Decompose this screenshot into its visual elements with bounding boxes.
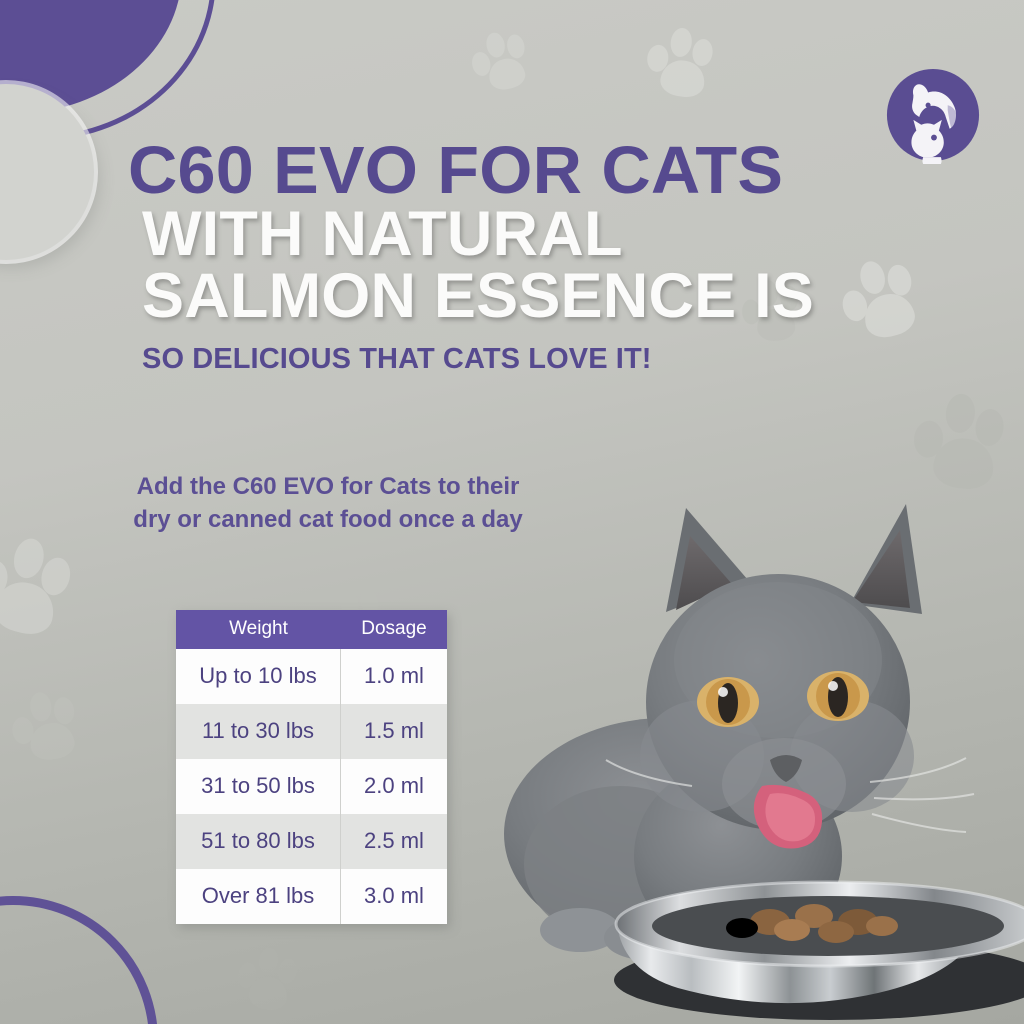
headline-subline: SO DELICIOUS THAT CATS LOVE IT! — [142, 346, 868, 373]
paw-print-icon — [464, 24, 536, 97]
table-row: 11 to 30 lbs 1.5 ml — [176, 704, 447, 759]
cell-weight: 31 to 50 lbs — [176, 759, 341, 814]
table-header-row: Weight Dosage — [176, 610, 447, 649]
table-row: Over 81 lbs 3.0 ml — [176, 869, 447, 924]
table-row: 31 to 50 lbs 2.0 ml — [176, 759, 447, 814]
cell-weight: 11 to 30 lbs — [176, 704, 341, 759]
paw-print-icon — [640, 21, 719, 102]
headline-line-3: SALMON ESSENCE IS — [142, 268, 868, 326]
decorative-bottom-ring — [0, 896, 158, 1024]
paw-print-icon — [231, 941, 303, 1015]
headline-block: C60 EVO FOR CATS WITH NATURAL SALMON ESS… — [128, 140, 868, 372]
cell-dosage: 2.0 ml — [341, 759, 447, 814]
paw-print-icon — [5, 685, 84, 766]
headline-line-2: WITH NATURAL — [142, 206, 868, 264]
cell-weight: Up to 10 lbs — [176, 649, 341, 704]
column-header-dosage: Dosage — [341, 610, 447, 649]
table-body: Up to 10 lbs 1.0 ml 11 to 30 lbs 1.5 ml … — [176, 649, 447, 924]
cell-dosage: 1.5 ml — [341, 704, 447, 759]
cell-weight: Over 81 lbs — [176, 869, 341, 924]
cell-dosage: 1.0 ml — [341, 649, 447, 704]
headline-line-1: C60 EVO FOR CATS — [128, 140, 883, 202]
cat-with-bowl-photo — [470, 464, 1024, 1024]
usage-instructions: Add the C60 EVO for Cats to their dry or… — [128, 470, 528, 536]
paw-print-icon — [0, 524, 83, 644]
cell-dosage: 2.5 ml — [341, 814, 447, 869]
cell-weight: 51 to 80 lbs — [176, 814, 341, 869]
dosage-table: Weight Dosage Up to 10 lbs 1.0 ml 11 to … — [176, 610, 447, 924]
cell-dosage: 3.0 ml — [341, 869, 447, 924]
poster-canvas: C60 EVO FOR CATS WITH NATURAL SALMON ESS… — [0, 0, 1024, 1024]
table-row: Up to 10 lbs 1.0 ml — [176, 649, 447, 704]
column-header-weight: Weight — [176, 610, 341, 649]
dog-and-cat-logo-icon[interactable] — [884, 66, 982, 164]
table-row: 51 to 80 lbs 2.5 ml — [176, 814, 447, 869]
